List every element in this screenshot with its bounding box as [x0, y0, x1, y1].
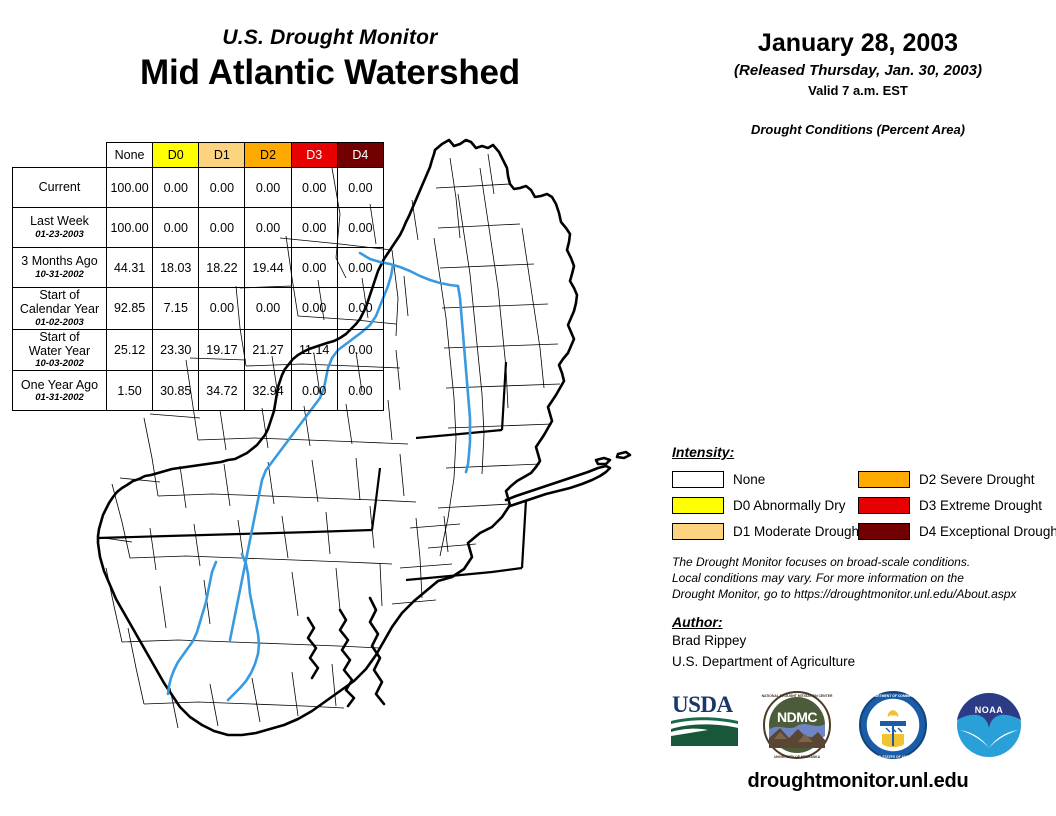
legend-label-none: None	[733, 472, 765, 487]
legend-label-d4: D4 Exceptional Drought	[919, 524, 1056, 539]
program-title: U.S. Drought Monitor	[0, 26, 660, 49]
legend-label-d2: D2 Severe Drought	[919, 472, 1035, 487]
cell-d3: 0.00	[291, 288, 337, 330]
table-row: Last Week 01-23-2003 100.00 0.00 0.00 0.…	[13, 208, 384, 248]
row-label-date: 01-02-2003	[13, 318, 106, 329]
author-name: Brad Rippey	[672, 632, 1042, 651]
swatch-d3	[858, 497, 910, 514]
legend-item-d1: D1 Moderate Drought	[672, 518, 858, 544]
cell-d1: 34.72	[199, 371, 245, 411]
cell-d0: 0.00	[153, 168, 199, 208]
row-label-text: Start ofWater Year	[29, 330, 90, 358]
disclaimer-line-3[interactable]: Drought Monitor, go to https://droughtmo…	[672, 586, 1052, 602]
disclaimer-line-1: The Drought Monitor focuses on broad-sca…	[672, 554, 1052, 570]
cell-d3: 0.00	[291, 168, 337, 208]
cell-d3: 11.14	[291, 329, 337, 371]
column-header-d1: D1	[199, 143, 245, 168]
swatch-d0	[672, 497, 724, 514]
cell-d0: 7.15	[153, 288, 199, 330]
author-block: Author: Brad Rippey U.S. Department of A…	[672, 614, 1042, 672]
cell-d2: 0.00	[245, 168, 291, 208]
legend-label-d0: D0 Abnormally Dry	[733, 498, 846, 513]
ndmc-logo[interactable]: NDMC NATIONAL DROUGHT MITIGATION CENTER …	[760, 688, 834, 762]
cell-d2: 21.27	[245, 329, 291, 371]
table-row: Start ofWater Year 10-03-2002 25.12 23.3…	[13, 329, 384, 371]
cell-none: 100.00	[107, 208, 153, 248]
table-row: 3 Months Ago 10-31-2002 44.31 18.03 18.2…	[13, 248, 384, 288]
row-label-text: One Year Ago	[21, 378, 98, 392]
page-title: Mid Atlantic Watershed	[0, 53, 660, 93]
svg-text:NOAA: NOAA	[975, 705, 1004, 715]
svg-text:USDA: USDA	[672, 692, 734, 717]
table-row: One Year Ago 01-31-2002 1.50 30.85 34.72…	[13, 371, 384, 411]
row-label-start-of-water-year: Start ofWater Year 10-03-2002	[13, 329, 107, 371]
cell-d4: 0.00	[337, 288, 383, 330]
title-block: U.S. Drought Monitor Mid Atlantic Waters…	[0, 26, 660, 93]
usda-logo[interactable]: USDA	[668, 688, 742, 752]
cell-d1: 0.00	[199, 168, 245, 208]
swatch-none	[672, 471, 724, 488]
column-header-d0: D0	[153, 143, 199, 168]
cell-d2: 32.94	[245, 371, 291, 411]
row-label-date: 01-23-2003	[13, 230, 106, 241]
legend-item-d4: D4 Exceptional Drought	[858, 518, 1044, 544]
doc-logo[interactable]: DEPARTMENT OF COMMERCE UNITED STATES OF …	[856, 688, 930, 762]
cell-d2: 19.44	[245, 248, 291, 288]
cell-d3: 0.00	[291, 371, 337, 411]
table-row: Current 100.00 0.00 0.00 0.00 0.00 0.00	[13, 168, 384, 208]
legend-item-d0: D0 Abnormally Dry	[672, 492, 858, 518]
date-block: January 28, 2003 (Released Thursday, Jan…	[660, 30, 1056, 99]
author-affiliation: U.S. Department of Agriculture	[672, 653, 1042, 672]
legend-label-d1: D1 Moderate Drought	[733, 524, 863, 539]
drought-conditions-table: None D0 D1 D2 D3 D4 Current 100.00 0.00 …	[12, 142, 384, 411]
cell-d0: 18.03	[153, 248, 199, 288]
row-label-current: Current	[13, 168, 107, 208]
row-label-text: Current	[39, 180, 81, 194]
cell-none: 1.50	[107, 371, 153, 411]
cell-d1: 18.22	[199, 248, 245, 288]
row-label-date: 10-03-2002	[13, 359, 106, 370]
valid-time: Valid 7 a.m. EST	[660, 84, 1056, 99]
cell-d2: 0.00	[245, 208, 291, 248]
row-label-3-months-ago: 3 Months Ago 10-31-2002	[13, 248, 107, 288]
cell-d1: 0.00	[199, 208, 245, 248]
disclaimer-line-2: Local conditions may vary. For more info…	[672, 570, 1052, 586]
cell-d0: 30.85	[153, 371, 199, 411]
map-date: January 28, 2003	[660, 30, 1056, 58]
release-date: (Released Thursday, Jan. 30, 2003)	[660, 62, 1056, 79]
svg-text:DEPARTMENT OF COMMERCE: DEPARTMENT OF COMMERCE	[868, 694, 919, 698]
row-label-date: 10-31-2002	[13, 270, 106, 281]
logo-row: USDA NDMC NATIONAL DROUGHT MITIGATION CE…	[666, 688, 1046, 770]
cell-d0: 23.30	[153, 329, 199, 371]
intensity-legend: Intensity: None D0 Abnormally Dry D1 Mod…	[672, 444, 1044, 544]
cell-d2: 0.00	[245, 288, 291, 330]
website-url[interactable]: droughtmonitor.unl.edu	[660, 770, 1056, 793]
legend-item-d2: D2 Severe Drought	[858, 466, 1044, 492]
intensity-heading: Intensity:	[672, 444, 1044, 460]
table-corner-blank	[13, 143, 107, 168]
legend-label-d3: D3 Extreme Drought	[919, 498, 1042, 513]
row-label-text: Last Week	[30, 214, 89, 228]
cell-d1: 19.17	[199, 329, 245, 371]
column-header-d4: D4	[337, 143, 383, 168]
row-label-start-of-calendar-year: Start ofCalendar Year 01-02-2003	[13, 288, 107, 330]
legend-column-right: D2 Severe Drought D3 Extreme Drought D4 …	[858, 466, 1044, 544]
table-row: Start ofCalendar Year 01-02-2003 92.85 7…	[13, 288, 384, 330]
svg-text:NDMC: NDMC	[777, 709, 817, 725]
row-label-text: Start ofCalendar Year	[20, 288, 99, 316]
row-label-last-week: Last Week 01-23-2003	[13, 208, 107, 248]
cell-d4: 0.00	[337, 168, 383, 208]
table-header-row: None D0 D1 D2 D3 D4	[13, 143, 384, 168]
cell-none: 100.00	[107, 168, 153, 208]
cell-d3: 0.00	[291, 248, 337, 288]
author-heading: Author:	[672, 614, 1042, 630]
svg-text:NATIONAL DROUGHT MITIGATION CE: NATIONAL DROUGHT MITIGATION CENTER	[762, 694, 833, 698]
noaa-logo[interactable]: NOAA	[952, 688, 1026, 762]
svg-text:UNIVERSITY OF NEBRASKA: UNIVERSITY OF NEBRASKA	[774, 755, 821, 759]
swatch-d2	[858, 471, 910, 488]
column-header-none: None	[107, 143, 153, 168]
swatch-d4	[858, 523, 910, 540]
row-label-one-year-ago: One Year Ago 01-31-2002	[13, 371, 107, 411]
cell-d3: 0.00	[291, 208, 337, 248]
column-header-d2: D2	[245, 143, 291, 168]
cell-d4: 0.00	[337, 371, 383, 411]
cell-d1: 0.00	[199, 288, 245, 330]
disclaimer-text: The Drought Monitor focuses on broad-sca…	[672, 554, 1052, 603]
row-label-text: 3 Months Ago	[21, 254, 97, 268]
cell-none: 92.85	[107, 288, 153, 330]
row-label-date: 01-31-2002	[13, 393, 106, 404]
swatch-d1	[672, 523, 724, 540]
cell-d4: 0.00	[337, 248, 383, 288]
svg-text:UNITED STATES OF AMERICA: UNITED STATES OF AMERICA	[869, 755, 918, 759]
conditions-table-caption: Drought Conditions (Percent Area)	[660, 122, 1056, 137]
cell-d4: 0.00	[337, 329, 383, 371]
cell-none: 44.31	[107, 248, 153, 288]
column-header-d3: D3	[291, 143, 337, 168]
cell-none: 25.12	[107, 329, 153, 371]
legend-item-none: None	[672, 466, 858, 492]
cell-d4: 0.00	[337, 208, 383, 248]
legend-item-d3: D3 Extreme Drought	[858, 492, 1044, 518]
table-body: Current 100.00 0.00 0.00 0.00 0.00 0.00 …	[13, 168, 384, 411]
legend-column-left: None D0 Abnormally Dry D1 Moderate Droug…	[672, 466, 858, 544]
cell-d0: 0.00	[153, 208, 199, 248]
